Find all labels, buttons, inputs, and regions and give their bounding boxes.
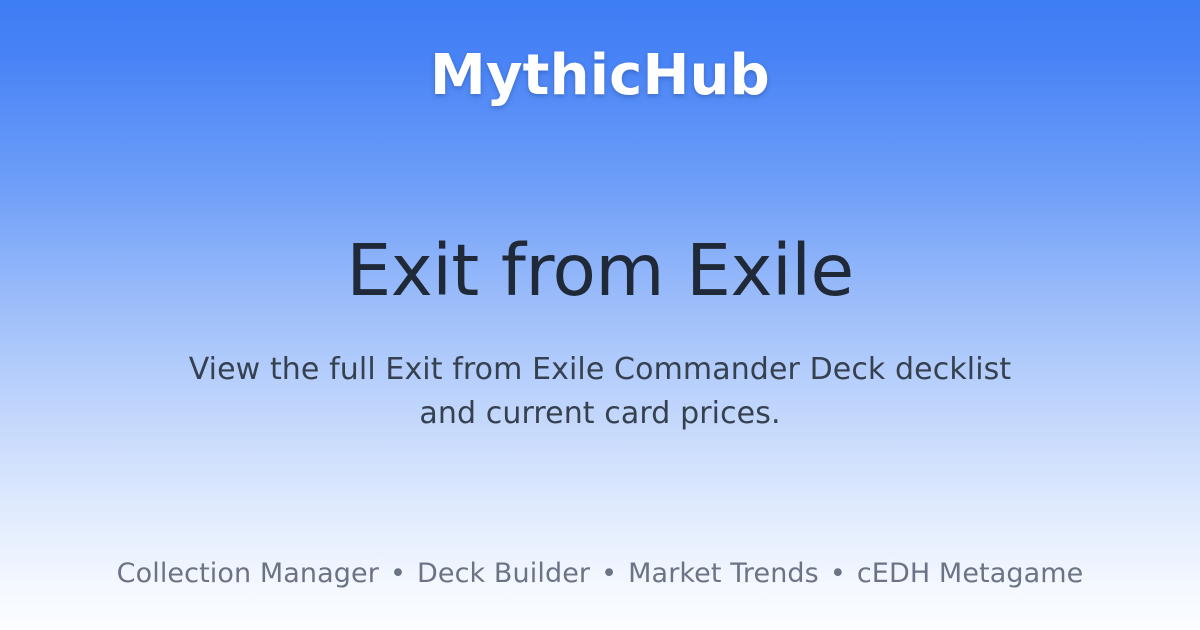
footer-item-deck-builder: Deck Builder: [417, 558, 590, 589]
footer-item-collection-manager: Collection Manager: [117, 558, 379, 589]
footer-separator-bullet-icon: •: [590, 558, 628, 589]
footer-item-market-trends: Market Trends: [628, 558, 819, 589]
footer-separator-bullet-icon: •: [379, 558, 417, 589]
footer-feature-list: Collection Manager • Deck Builder • Mark…: [0, 558, 1200, 589]
og-share-card: MythicHub Exit from Exile View the full …: [0, 0, 1200, 630]
brand-wordmark: MythicHub: [0, 44, 1200, 108]
hero-block: Exit from Exile View the full Exit from …: [0, 232, 1200, 466]
hero-subtitle: View the full Exit from Exile Commander …: [180, 348, 1020, 436]
footer-separator-bullet-icon: •: [819, 558, 857, 589]
page-title: Exit from Exile: [346, 232, 853, 310]
footer-item-cedh-metagame: cEDH Metagame: [857, 558, 1084, 589]
